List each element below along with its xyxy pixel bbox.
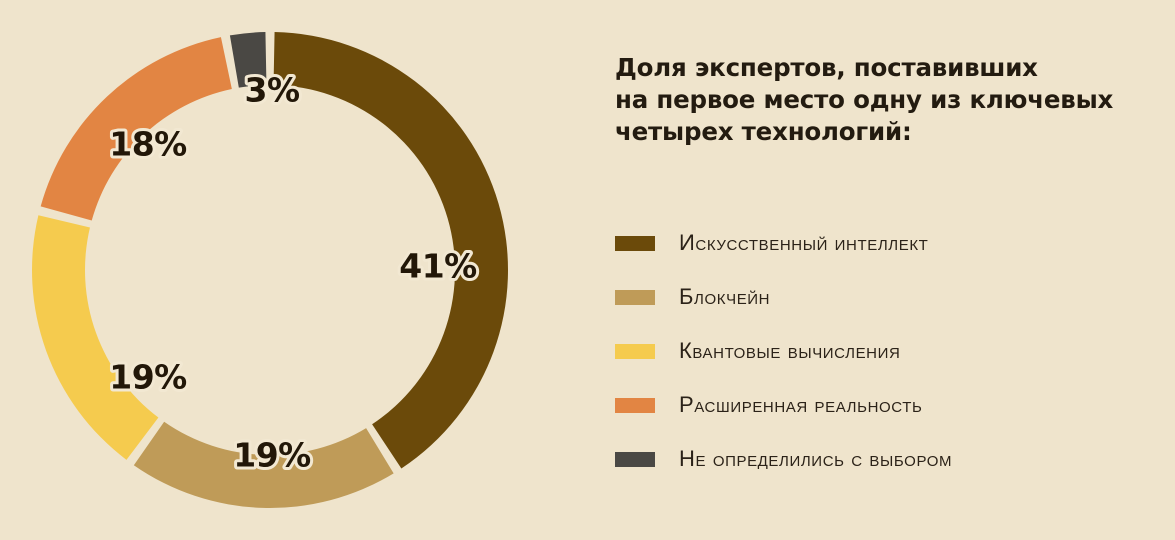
chart-title-line-3: четырех технологий: bbox=[615, 116, 1160, 148]
donut-slice-label: 18% bbox=[109, 125, 187, 164]
legend-swatch-icon bbox=[615, 398, 655, 413]
legend-swatch-icon bbox=[615, 452, 655, 467]
legend-item-blockchain[interactable]: Блокчейн bbox=[615, 270, 1165, 324]
legend-item-label: Не определились с выбором bbox=[679, 446, 952, 472]
donut-slice-label: 3% bbox=[244, 71, 299, 110]
legend-item-label: Искусственный интеллект bbox=[679, 230, 928, 256]
infographic-root: 41%19%19%18%3% Доля экспертов, поставивш… bbox=[0, 0, 1175, 540]
donut-chart: 41%19%19%18%3% bbox=[0, 0, 560, 540]
legend-item-label: Расширенная реальность bbox=[679, 392, 922, 418]
info-panel: Доля экспертов, поставивших на первое ме… bbox=[610, 0, 1170, 540]
legend-item-artificial-intelligence[interactable]: Искусственный интеллект bbox=[615, 216, 1165, 270]
chart-title-line-2: на первое место одну из ключевых bbox=[615, 84, 1160, 116]
legend-item-quantum-computing[interactable]: Квантовые вычисления bbox=[615, 324, 1165, 378]
donut-chart-panel: 41%19%19%18%3% bbox=[0, 0, 560, 540]
donut-slice-label: 19% bbox=[109, 358, 187, 397]
chart-legend: Искусственный интеллект Блокчейн Квантов… bbox=[615, 216, 1165, 486]
chart-title-line-1: Доля экспертов, поставивших bbox=[615, 52, 1160, 84]
legend-swatch-icon bbox=[615, 290, 655, 305]
legend-item-label: Блокчейн bbox=[679, 284, 770, 310]
legend-item-extended-reality[interactable]: Расширенная реальность bbox=[615, 378, 1165, 432]
donut-slice[interactable] bbox=[32, 215, 158, 460]
donut-slice-label: 41% bbox=[399, 247, 477, 286]
donut-slice-label: 19% bbox=[233, 436, 311, 475]
legend-swatch-icon bbox=[615, 236, 655, 251]
legend-item-undecided[interactable]: Не определились с выбором bbox=[615, 432, 1165, 486]
chart-title: Доля экспертов, поставивших на первое ме… bbox=[615, 52, 1160, 148]
legend-swatch-icon bbox=[615, 344, 655, 359]
legend-item-label: Квантовые вычисления bbox=[679, 338, 900, 364]
